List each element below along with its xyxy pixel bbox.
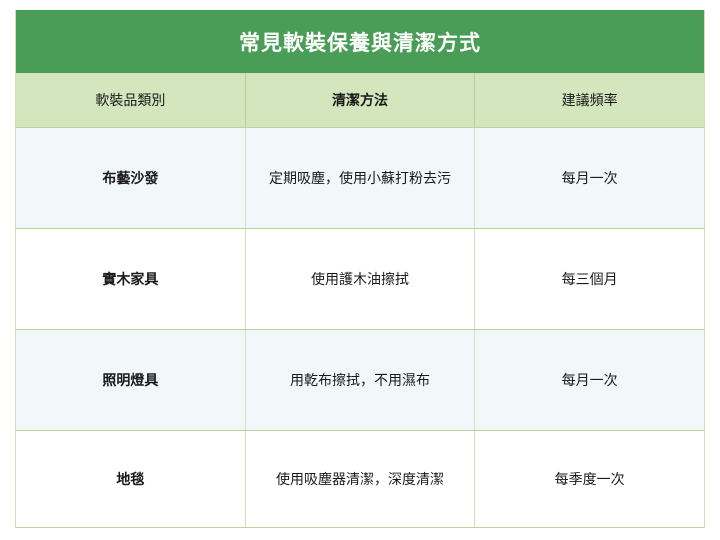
cell-category: 地毯	[16, 431, 246, 528]
cell-category: 實木家具	[16, 229, 246, 330]
table-row: 照明燈具 用乾布擦拭，不用濕布 每月一次	[16, 330, 705, 431]
table-row: 實木家具 使用護木油擦拭 每三個月	[16, 229, 705, 330]
cell-method: 定期吸塵，使用小蘇打粉去污	[245, 128, 475, 229]
table-title: 常見軟裝保養與清潔方式	[16, 10, 705, 73]
cell-category: 布藝沙發	[16, 128, 246, 229]
column-header-row: 軟裝品類別 清潔方法 建議頻率	[16, 73, 705, 128]
table-title-row: 常見軟裝保養與清潔方式	[16, 10, 705, 73]
cell-method: 使用護木油擦拭	[245, 229, 475, 330]
cell-frequency: 每三個月	[475, 229, 705, 330]
column-header-category: 軟裝品類別	[16, 73, 246, 128]
cell-method: 使用吸塵器清潔，深度清潔	[245, 431, 475, 528]
column-header-method: 清潔方法	[245, 73, 475, 128]
care-table-container: 常見軟裝保養與清潔方式 軟裝品類別 清潔方法 建議頻率 布藝沙發 定期吸塵，使用…	[15, 10, 705, 528]
cell-frequency: 每月一次	[475, 330, 705, 431]
column-header-frequency: 建議頻率	[475, 73, 705, 128]
table-body: 布藝沙發 定期吸塵，使用小蘇打粉去污 每月一次 實木家具 使用護木油擦拭 每三個…	[16, 128, 705, 528]
table-row: 布藝沙發 定期吸塵，使用小蘇打粉去污 每月一次	[16, 128, 705, 229]
cell-method: 用乾布擦拭，不用濕布	[245, 330, 475, 431]
cell-frequency: 每月一次	[475, 128, 705, 229]
table-head: 常見軟裝保養與清潔方式 軟裝品類別 清潔方法 建議頻率	[16, 10, 705, 128]
soft-furnishing-care-table: 常見軟裝保養與清潔方式 軟裝品類別 清潔方法 建議頻率 布藝沙發 定期吸塵，使用…	[15, 10, 705, 528]
cell-category: 照明燈具	[16, 330, 246, 431]
cell-frequency: 每季度一次	[475, 431, 705, 528]
table-row: 地毯 使用吸塵器清潔，深度清潔 每季度一次	[16, 431, 705, 528]
